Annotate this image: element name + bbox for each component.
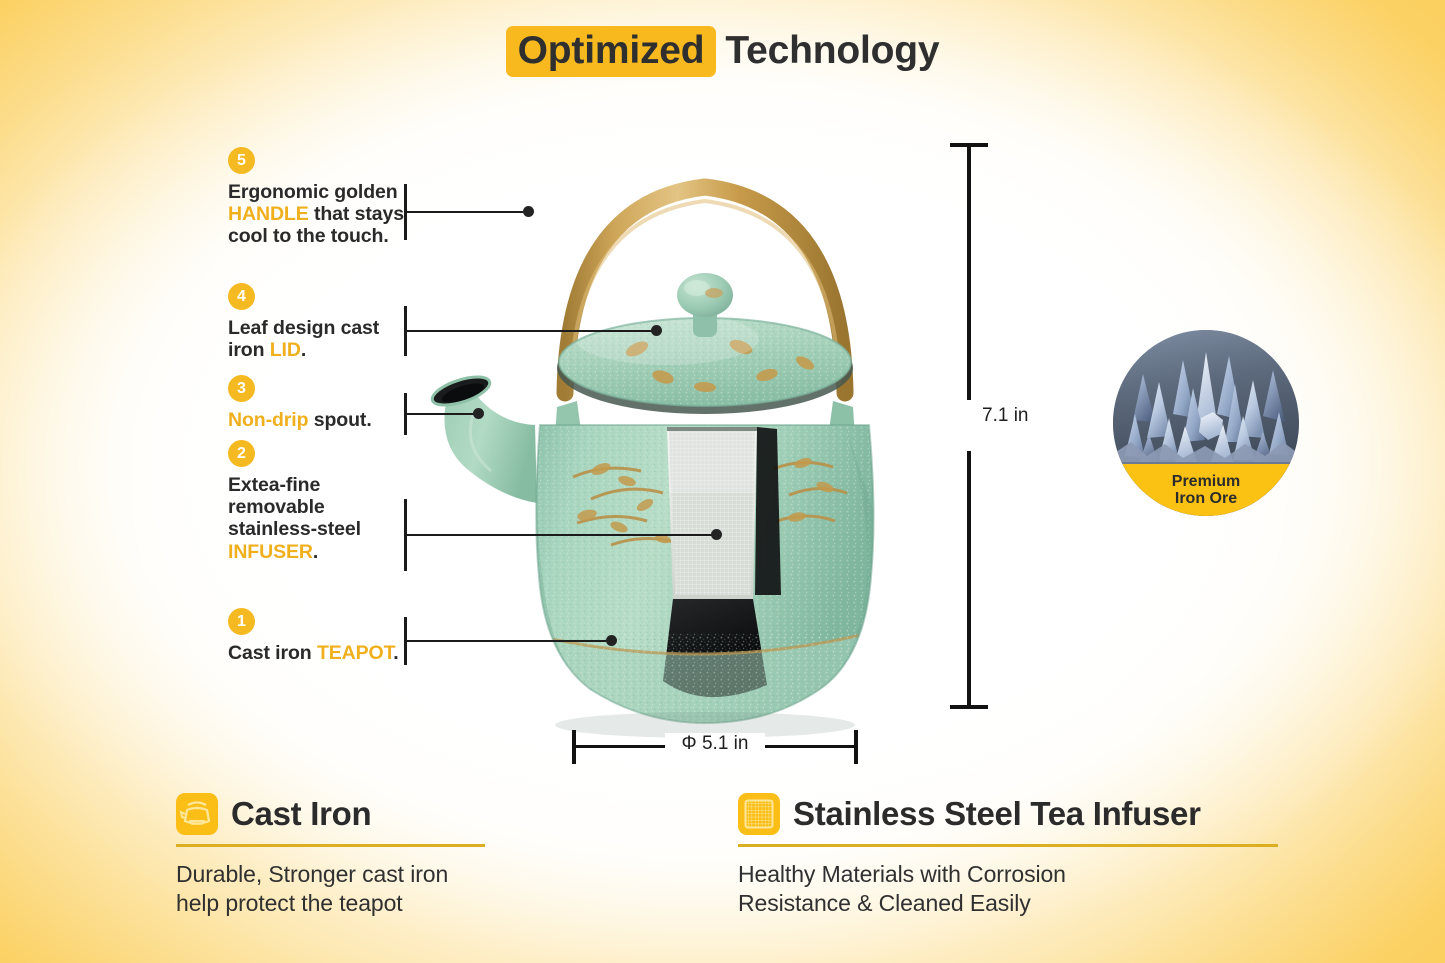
- callout-1-text: Cast iron TEAPOT.: [228, 642, 428, 664]
- dimension-width: Φ 5.1 in: [572, 730, 858, 768]
- ore-badge-line1: Premium: [1172, 473, 1240, 490]
- feature-infuser-desc-line2: Resistance & Cleaned Easily: [738, 890, 1031, 916]
- callout-1-number: 1: [228, 608, 255, 635]
- title-highlight: Optimized: [506, 26, 717, 77]
- feature-infuser-rule: [738, 844, 1278, 847]
- callout-1-line1b: .: [393, 642, 398, 664]
- feature-infuser-head: Stainless Steel Tea Infuser: [738, 793, 1283, 835]
- feature-cast-iron-rule: [176, 844, 485, 847]
- leader-line-2: [404, 499, 724, 571]
- feature-cast-iron-desc-line2: help protect the teapot: [176, 890, 403, 916]
- callout-1: 1 Cast iron TEAPOT.: [228, 608, 428, 664]
- callout-4-text: Leaf design cast iron LID.: [228, 317, 418, 361]
- feature-cast-iron-title: Cast Iron: [231, 795, 371, 833]
- feature-cast-iron-desc: Durable, Stronger cast iron help protect…: [176, 860, 496, 917]
- callout-3: 3 Non-drip spout.: [228, 375, 428, 431]
- callout-3-highlight: Non-drip: [228, 409, 308, 431]
- callout-4-line2a: iron: [228, 339, 270, 361]
- callout-4-line2b: .: [301, 339, 306, 361]
- callout-2-line2: removable: [228, 496, 325, 518]
- feature-infuser: Stainless Steel Tea Infuser Healthy Mate…: [738, 793, 1283, 917]
- mesh-grid-infuser-icon: [738, 793, 780, 835]
- callout-1-line1a: Cast iron: [228, 642, 317, 664]
- feature-cast-iron: Cast Iron Durable, Stronger cast iron he…: [176, 793, 496, 917]
- callout-4: 4 Leaf design cast iron LID.: [228, 283, 418, 361]
- callout-3-line1b: spout.: [308, 409, 371, 431]
- callout-5-text: Ergonomic golden HANDLE that stays cool …: [228, 181, 418, 248]
- callout-2-line1: Extea-fine: [228, 474, 320, 496]
- page-title: OptimizedTechnology: [0, 26, 1445, 77]
- callout-5-line1: Ergonomic golden: [228, 181, 398, 203]
- callout-4-number: 4: [228, 283, 255, 310]
- callout-5-number: 5: [228, 147, 255, 174]
- callout-2-number: 2: [228, 440, 255, 467]
- feature-infuser-title: Stainless Steel Tea Infuser: [793, 795, 1201, 833]
- callout-2-highlight: INFUSER: [228, 541, 313, 563]
- premium-iron-ore-badge: Premium Iron Ore: [1113, 330, 1299, 516]
- ore-badge-line2: Iron Ore: [1175, 490, 1237, 507]
- callout-5-highlight: HANDLE: [228, 203, 309, 225]
- title-rest: Technology: [725, 29, 939, 72]
- cast-iron-teapot-icon: [176, 793, 218, 835]
- callout-3-number: 3: [228, 375, 255, 402]
- ore-badge-label: Premium Iron Ore: [1113, 464, 1299, 516]
- callout-5: 5 Ergonomic golden HANDLE that stays coo…: [228, 147, 418, 248]
- dimension-height: 7.1 in: [950, 143, 1070, 709]
- feature-cast-iron-head: Cast Iron: [176, 793, 496, 835]
- dimension-width-label: Φ 5.1 in: [665, 733, 765, 755]
- feature-infuser-desc: Healthy Materials with Corrosion Resista…: [738, 860, 1283, 917]
- callout-2-line4b: .: [313, 541, 318, 563]
- leader-line-5: [404, 184, 534, 240]
- callout-4-line1: Leaf design cast: [228, 317, 379, 339]
- callout-4-highlight: LID: [270, 339, 301, 361]
- callout-2-text: Extea-fine removable stainless-steel INF…: [228, 474, 428, 563]
- leader-line-1: [404, 617, 619, 665]
- feature-cast-iron-desc-line1: Durable, Stronger cast iron: [176, 861, 448, 887]
- teapot-knob: [677, 273, 733, 317]
- callout-3-text: Non-drip spout.: [228, 409, 428, 431]
- callout-5-line2b: that stays: [309, 203, 404, 225]
- dimension-height-label: 7.1 in: [982, 405, 1028, 427]
- callout-1-highlight: TEAPOT: [317, 642, 393, 664]
- infographic-canvas: OptimizedTechnology: [0, 0, 1445, 963]
- leader-line-4: [404, 306, 664, 356]
- callout-2: 2 Extea-fine removable stainless-steel I…: [228, 440, 428, 563]
- leader-line-3: [404, 393, 484, 435]
- feature-infuser-desc-line1: Healthy Materials with Corrosion: [738, 861, 1066, 887]
- callout-5-line3: cool to the touch.: [228, 225, 389, 247]
- callout-2-line3: stainless-steel: [228, 518, 361, 540]
